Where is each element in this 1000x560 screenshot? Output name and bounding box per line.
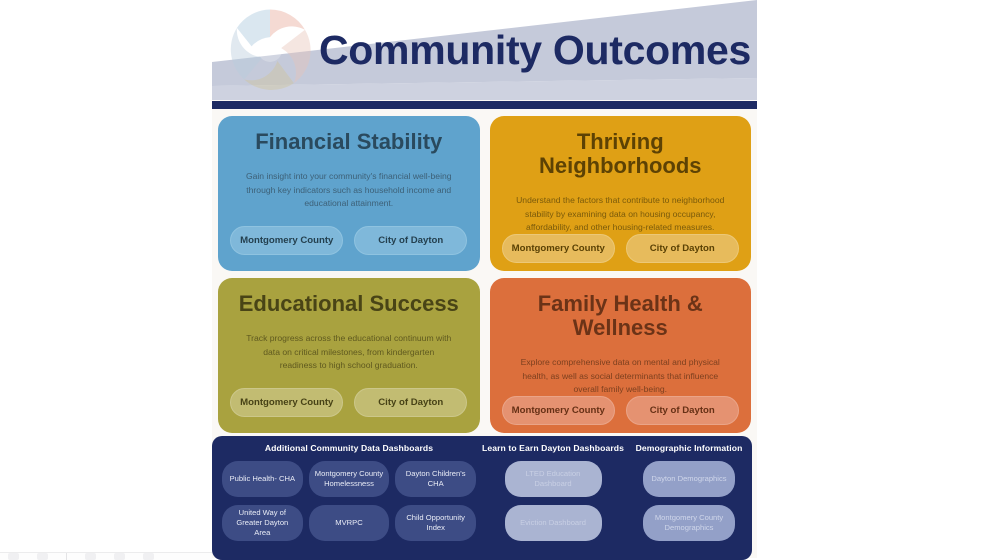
button-city-of-dayton[interactable]: City of Dayton (626, 396, 739, 425)
header-accent-bar (212, 101, 757, 109)
dashboard-link-united-way-of-greater-dayton-area[interactable]: United Way of Greater Dayton Area (222, 505, 303, 541)
card-description: Explore comprehensive data on mental and… (502, 356, 740, 396)
toolbar-chip-icon (85, 553, 96, 560)
button-montgomery-county[interactable]: Montgomery County (502, 234, 615, 263)
panel-column-demographic-information: Demographic Information Dayton Demograph… (626, 443, 752, 560)
panel-column-learn-to-earn: Learn to Earn Dayton Dashboards LTED Edu… (480, 443, 626, 560)
button-montgomery-county[interactable]: Montgomery County (230, 388, 343, 417)
dashboard-link-lted-education-dashboard[interactable]: LTED Education Dashboard (505, 461, 602, 497)
button-city-of-dayton[interactable]: City of Dayton (354, 388, 467, 417)
button-montgomery-county[interactable]: Montgomery County (230, 226, 343, 255)
card-educational-success[interactable]: Educational Success Track progress acros… (218, 278, 480, 433)
card-description: Understand the factors that contribute t… (502, 194, 740, 234)
dashboard-link-eviction-dashboard[interactable]: Eviction Dashboard (505, 505, 602, 541)
card-button-row: Montgomery County City of Dayton (502, 396, 740, 425)
card-button-row: Montgomery County City of Dayton (502, 234, 740, 263)
card-title: Family Health & Wellness (502, 292, 740, 340)
dashboard-link-public-health-cha[interactable]: Public Health- CHA (222, 461, 303, 497)
card-thriving-neighborhoods[interactable]: Thriving Neighborhoods Understand the fa… (490, 116, 752, 271)
toolbar-chip-icon (114, 553, 125, 560)
button-city-of-dayton[interactable]: City of Dayton (626, 234, 739, 263)
card-family-health-wellness[interactable]: Family Health & Wellness Explore compreh… (490, 278, 752, 433)
pill-grid: Public Health- CHA Montgomery County Hom… (218, 461, 480, 541)
dashboard-link-montgomery-county-homelessness[interactable]: Montgomery County Homelessness (309, 461, 390, 497)
page-root: Community Outcomes Financial Stability G… (0, 0, 1000, 560)
page-header: Community Outcomes (212, 0, 757, 100)
card-description: Gain insight into your community's finan… (230, 170, 468, 226)
toolbar-chip-icon (8, 553, 19, 560)
dashboard-link-mvrpc[interactable]: MVRPC (309, 505, 390, 541)
button-city-of-dayton[interactable]: City of Dayton (354, 226, 467, 255)
pill-grid: LTED Education Dashboard Eviction Dashbo… (480, 461, 626, 541)
panel-column-additional-community-data: Additional Community Data Dashboards Pub… (212, 443, 480, 560)
card-button-row: Montgomery County City of Dayton (230, 226, 468, 255)
bottom-toolbar-strip (0, 552, 212, 560)
card-title: Educational Success (239, 292, 459, 316)
card-title: Financial Stability (255, 130, 442, 154)
toolbar-divider (66, 553, 67, 560)
panel-column-heading: Learn to Earn Dayton Dashboards (480, 443, 626, 453)
panel-column-heading: Demographic Information (626, 443, 752, 453)
toolbar-chip-icon (143, 553, 154, 560)
card-button-row: Montgomery County City of Dayton (230, 388, 468, 417)
dashboard-link-child-opportunity-index[interactable]: Child Opportunity Index (395, 505, 476, 541)
page-canvas: Community Outcomes Financial Stability G… (212, 0, 757, 558)
dashboard-link-montgomery-county-demographics[interactable]: Montgomery County Demographics (643, 505, 735, 541)
card-financial-stability[interactable]: Financial Stability Gain insight into yo… (218, 116, 480, 271)
page-title: Community Outcomes (212, 0, 757, 100)
panel-column-heading: Additional Community Data Dashboards (218, 443, 480, 453)
dashboards-panel: Additional Community Data Dashboards Pub… (212, 436, 752, 560)
card-title: Thriving Neighborhoods (502, 130, 740, 178)
toolbar-chip-icon (37, 553, 48, 560)
card-description: Track progress across the educational co… (230, 332, 468, 388)
outcome-cards-grid: Financial Stability Gain insight into yo… (218, 116, 751, 433)
button-montgomery-county[interactable]: Montgomery County (502, 396, 615, 425)
pill-grid: Dayton Demographics Montgomery County De… (626, 461, 752, 541)
dashboard-link-dayton-childrens-cha[interactable]: Dayton Children's CHA (395, 461, 476, 497)
dashboard-link-dayton-demographics[interactable]: Dayton Demographics (643, 461, 735, 497)
